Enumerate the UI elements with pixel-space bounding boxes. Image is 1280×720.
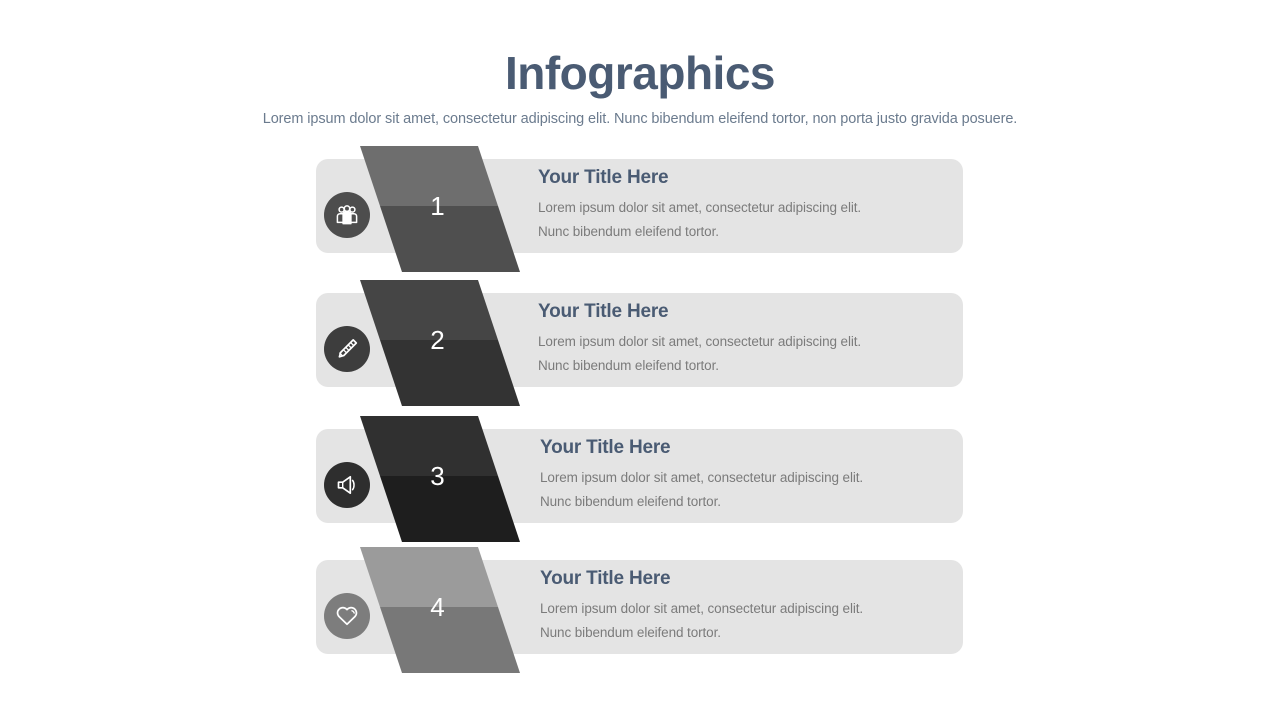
page-subtitle: Lorem ipsum dolor sit amet, consectetur … — [0, 111, 1280, 127]
row-title: Your Title Here — [540, 569, 863, 590]
row-text: Your Title HereLorem ipsum dolor sit ame… — [538, 168, 861, 240]
step-number: 4 — [355, 594, 520, 620]
row-title: Your Title Here — [538, 168, 861, 189]
infographic-slide: Infographics Lorem ipsum dolor sit amet,… — [0, 0, 1280, 720]
row-line-1: Lorem ipsum dolor sit amet, consectetur … — [540, 470, 863, 486]
row-text: Your Title HereLorem ipsum dolor sit ame… — [540, 569, 863, 641]
row-line-2: Nunc bibendum eleifend tortor. — [540, 625, 863, 641]
row-line-2: Nunc bibendum eleifend tortor. — [538, 358, 861, 374]
row-line-2: Nunc bibendum eleifend tortor. — [540, 494, 863, 510]
row-text: Your Title HereLorem ipsum dolor sit ame… — [540, 438, 863, 510]
row-line-1: Lorem ipsum dolor sit amet, consectetur … — [540, 601, 863, 617]
step-number: 1 — [355, 193, 520, 219]
row-text: Your Title HereLorem ipsum dolor sit ame… — [538, 302, 861, 374]
infographic-row[interactable]: 3Your Title HereLorem ipsum dolor sit am… — [0, 416, 1280, 550]
row-title: Your Title Here — [538, 302, 861, 323]
row-line-1: Lorem ipsum dolor sit amet, consectetur … — [538, 334, 861, 350]
page-title: Infographics — [0, 48, 1280, 99]
row-line-2: Nunc bibendum eleifend tortor. — [538, 224, 861, 240]
header: Infographics Lorem ipsum dolor sit amet,… — [0, 0, 1280, 127]
row-line-1: Lorem ipsum dolor sit amet, consectetur … — [538, 200, 861, 216]
infographic-row[interactable]: 2Your Title HereLorem ipsum dolor sit am… — [0, 280, 1280, 414]
row-title: Your Title Here — [540, 438, 863, 459]
infographic-row[interactable]: 1Your Title HereLorem ipsum dolor sit am… — [0, 146, 1280, 280]
step-number: 3 — [355, 463, 520, 489]
infographic-row[interactable]: 4Your Title HereLorem ipsum dolor sit am… — [0, 547, 1280, 681]
step-number: 2 — [355, 327, 520, 353]
